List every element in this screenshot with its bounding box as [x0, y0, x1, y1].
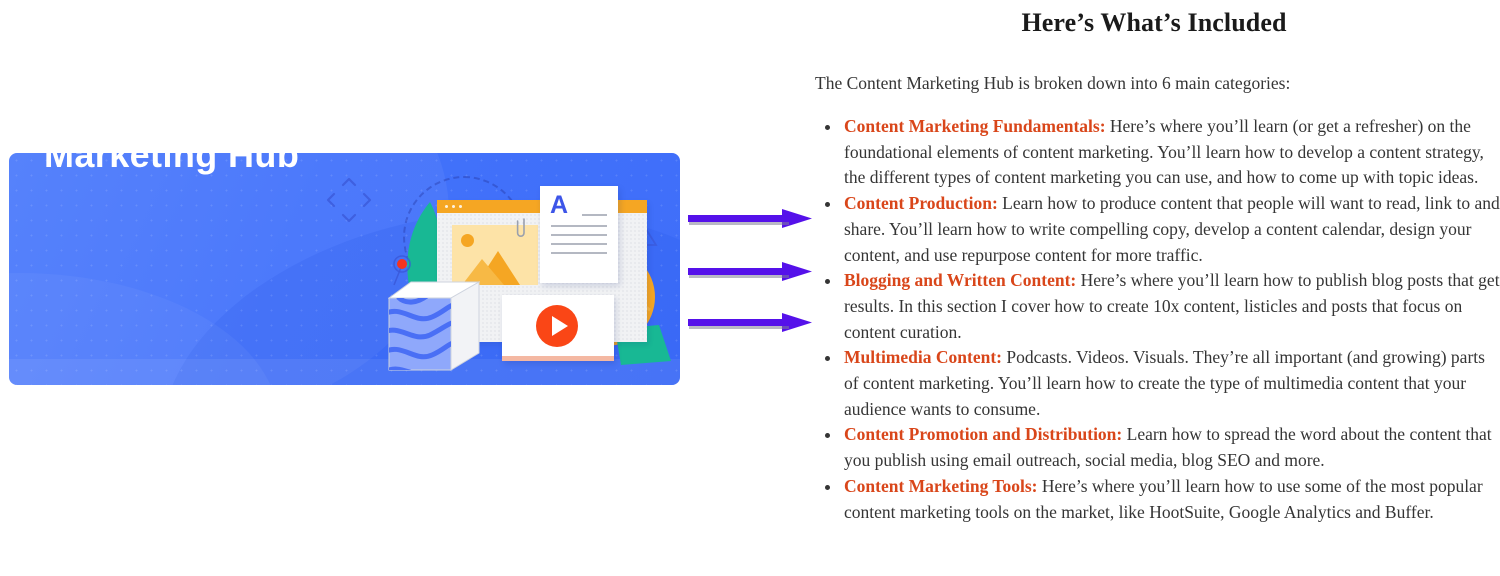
category-list-item: Content Production: Learn how to produce…	[842, 191, 1500, 268]
arrow-right-icon	[688, 209, 812, 228]
intro-paragraph: The Content Marketing Hub is broken down…	[815, 70, 1500, 96]
banner-headline-line-2: Marketing Hub	[44, 132, 299, 178]
category-title: Blogging and Written Content:	[844, 270, 1076, 290]
video-progress-bar	[502, 356, 614, 361]
category-title: Content Promotion and Distribution:	[844, 424, 1122, 444]
category-title: Multimedia Content:	[844, 347, 1002, 367]
page-title: Here’s What’s Included	[812, 8, 1500, 38]
category-title: Content Production:	[844, 193, 998, 213]
introducing-label: INTRODUCING:	[44, 44, 299, 62]
category-title: Content Marketing Tools:	[844, 476, 1037, 496]
banner-headline-line-1: The Content	[44, 86, 299, 132]
arrow-group	[686, 205, 821, 335]
video-player-illustration	[502, 295, 614, 361]
banner-bottom-strip	[9, 359, 680, 385]
arrow-right-icon	[688, 262, 812, 281]
pattern-cube-illustration	[388, 281, 480, 371]
category-list-item: Multimedia Content: Podcasts. Videos. Vi…	[842, 345, 1500, 422]
paperclip-icon	[515, 215, 529, 241]
category-title: Content Marketing Fundamentals:	[844, 116, 1106, 136]
play-button-icon	[536, 305, 578, 347]
document-letter: A	[550, 192, 568, 218]
content-panel: Here’s What’s Included The Content Marke…	[812, 0, 1500, 525]
banner-text-block: INTRODUCING: The Content Marketing Hub	[44, 44, 299, 178]
play-triangle-icon	[552, 316, 568, 336]
category-list-item: Content Marketing Tools: Here’s where yo…	[842, 474, 1500, 525]
move-chevrons-icon	[322, 173, 376, 227]
category-list-item: Blogging and Written Content: Here’s whe…	[842, 268, 1500, 345]
category-list-item: Content Promotion and Distribution: Lear…	[842, 422, 1500, 473]
document-illustration: A	[540, 186, 618, 283]
arrow-right-icon	[688, 313, 812, 332]
category-list-item: Content Marketing Fundamentals: Here’s w…	[842, 114, 1500, 191]
category-list: Content Marketing Fundamentals: Here’s w…	[812, 114, 1500, 525]
